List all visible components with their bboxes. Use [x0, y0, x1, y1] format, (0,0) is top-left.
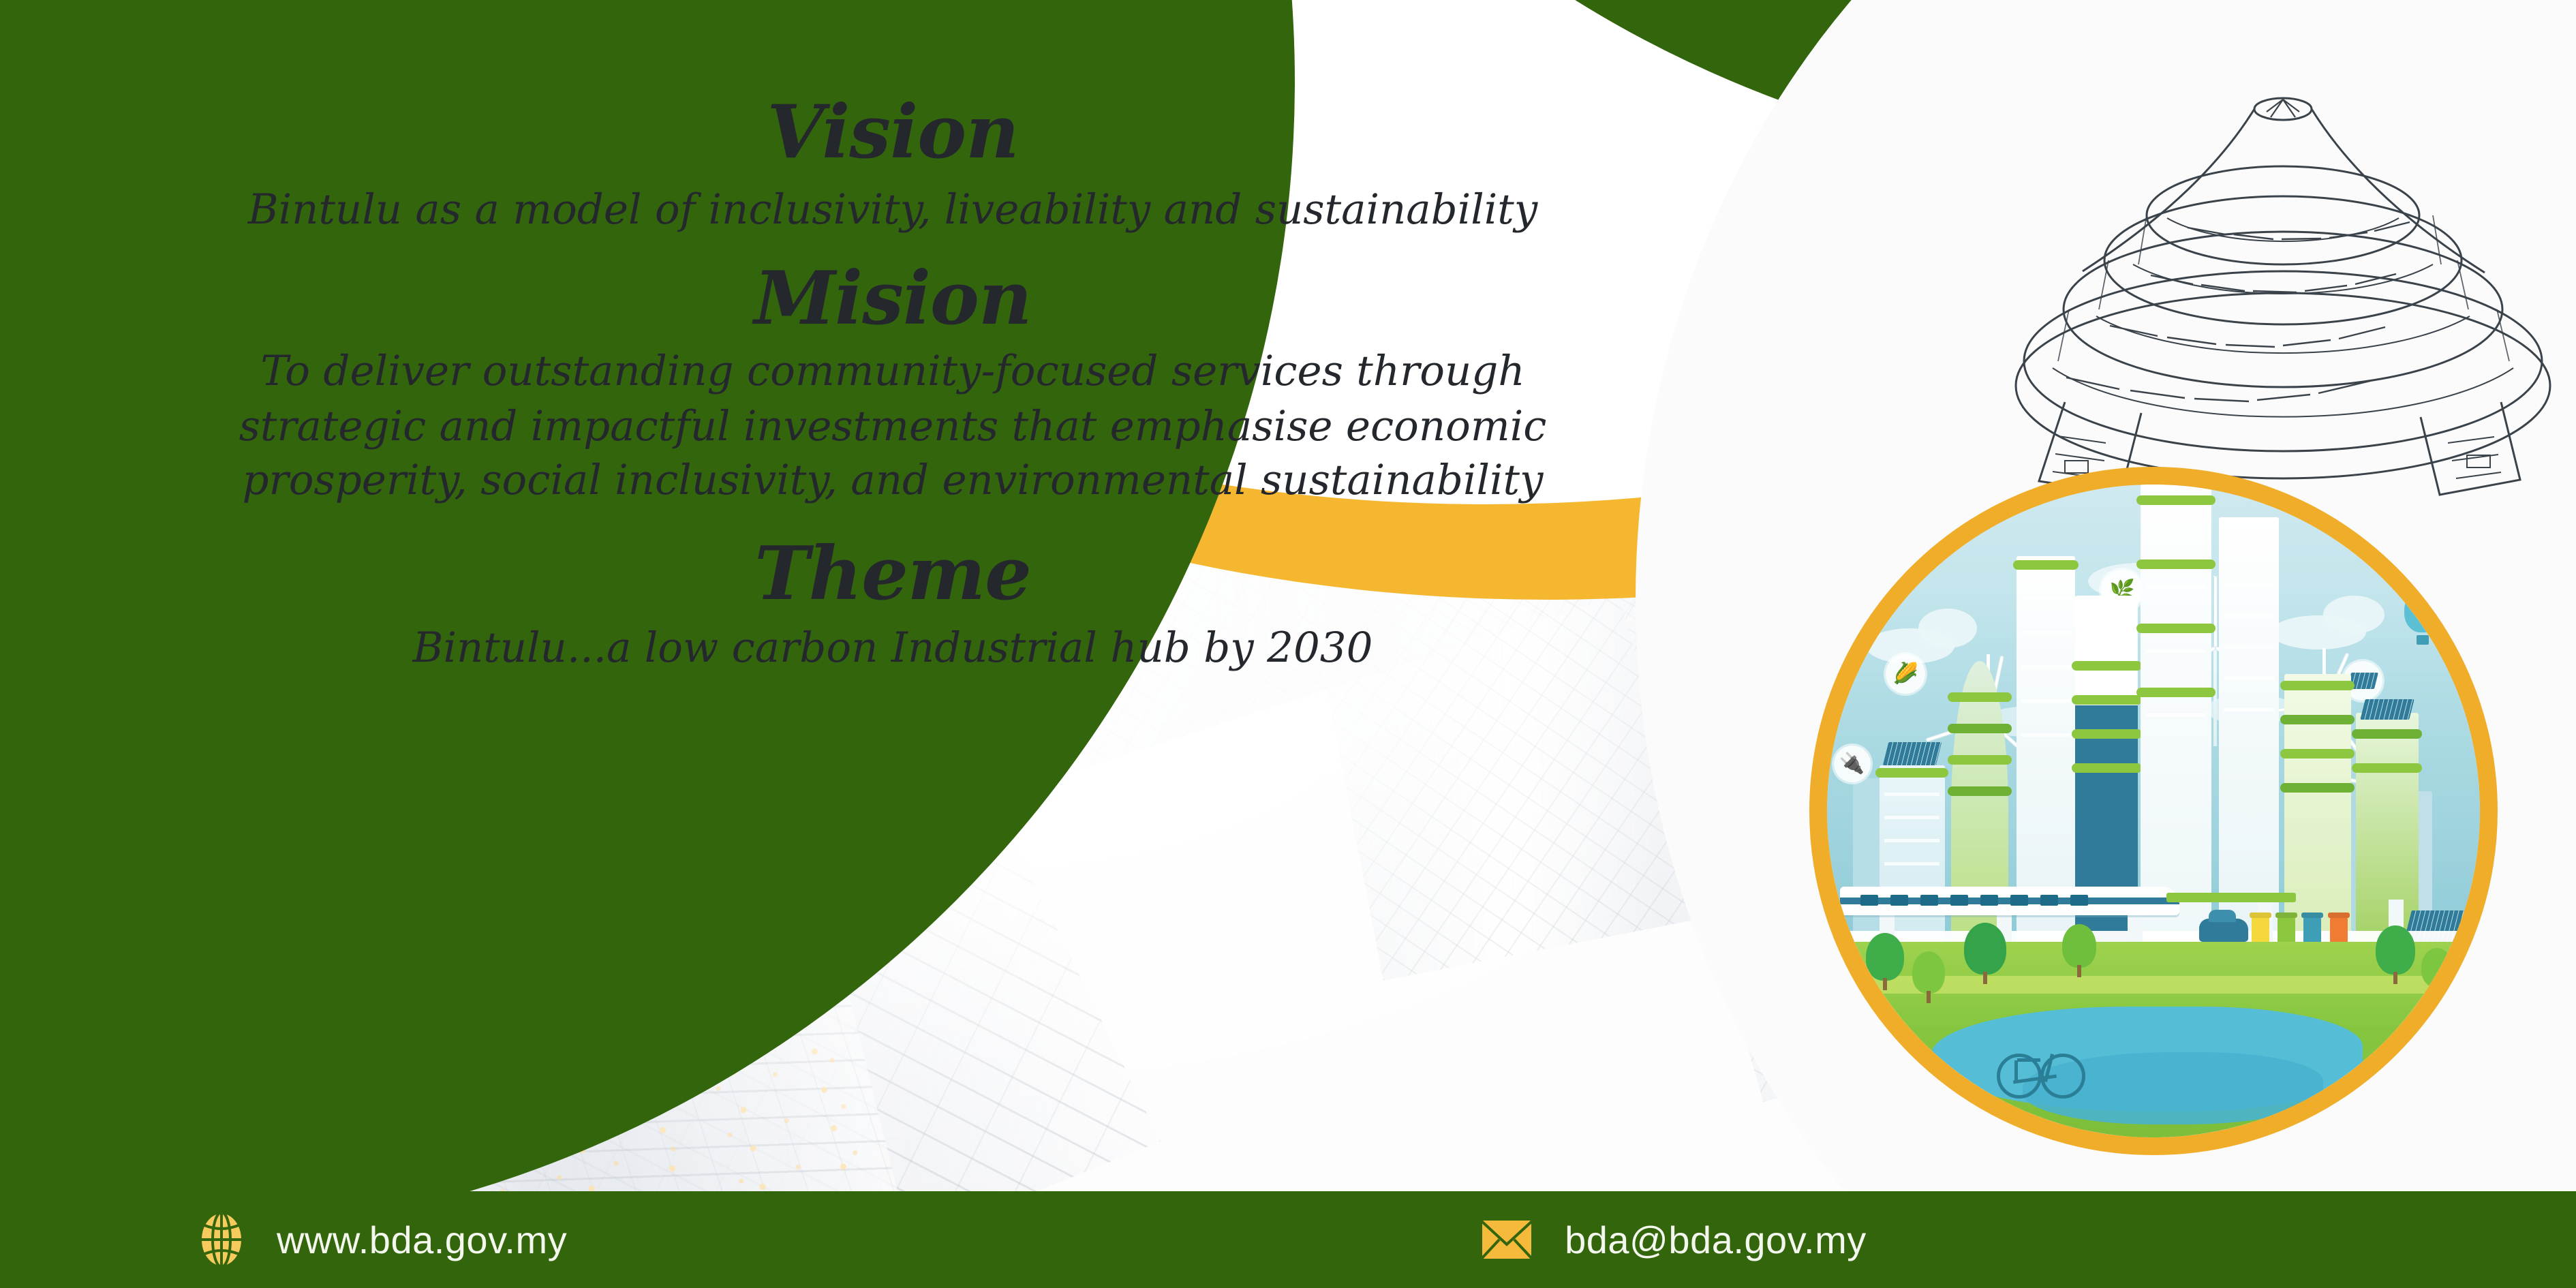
eco-city-circle: 🌿 🌽 💡 🔌	[1809, 467, 2498, 1155]
website-contact[interactable]: www.bda.gov.my	[196, 1210, 567, 1269]
vision-mission-theme-text: Vision Bintulu as a model of inclusivity…	[0, 0, 1785, 1191]
hot-air-balloon	[2404, 589, 2441, 632]
section-mision: Mision To deliver outstanding community-…	[239, 260, 1547, 508]
section-theme: Theme Bintulu...a low carbon Industrial …	[413, 536, 1373, 675]
vision-heading: Vision	[248, 94, 1537, 170]
rooftop-solar	[1883, 742, 1942, 765]
envelope-icon	[1479, 1217, 1535, 1262]
electric-train	[1840, 887, 2179, 915]
tree	[1964, 923, 2006, 975]
globe-icon	[196, 1210, 247, 1269]
bicycle	[1997, 1048, 2085, 1099]
email-contact[interactable]: bda@bda.gov.my	[1479, 1217, 1867, 1262]
ev-charging-roof	[2166, 893, 2296, 902]
mision-heading: Mision	[239, 260, 1547, 337]
eco-city-illustration: 🌿 🌽 💡 🔌	[1827, 485, 2480, 1137]
theme-statement: Bintulu...a low carbon Industrial hub by…	[413, 621, 1373, 675]
mision-statement-line-2: strategic and impactful investments that…	[239, 399, 1547, 453]
website-url: www.bda.gov.my	[277, 1218, 567, 1262]
tree	[2421, 948, 2453, 987]
tree	[1912, 951, 1945, 994]
mision-statement-line-3: prosperity, social inclusivity, and envi…	[239, 453, 1547, 507]
vision-statement: Bintulu as a model of inclusivity, livea…	[248, 183, 1537, 236]
tree	[2376, 925, 2415, 975]
tree	[2062, 924, 2096, 968]
plug-icon: 🔌	[1834, 746, 1871, 782]
section-vision: Vision Bintulu as a model of inclusivity…	[248, 94, 1537, 237]
rooftop-solar	[2360, 699, 2414, 720]
tree	[1866, 933, 1904, 981]
footer-bar: www.bda.gov.my bda@bda.gov.my	[0, 1191, 2576, 1288]
bda-vision-mission-banner: 🌿 🌽 💡 🔌	[0, 0, 2576, 1288]
theme-heading: Theme	[413, 536, 1373, 612]
mision-statement-line-1: To deliver outstanding community-focused…	[239, 343, 1547, 399]
corn-icon: 🌽	[1886, 654, 1925, 694]
electric-car	[2199, 919, 2248, 942]
email-address: bda@bda.gov.my	[1565, 1218, 1867, 1262]
